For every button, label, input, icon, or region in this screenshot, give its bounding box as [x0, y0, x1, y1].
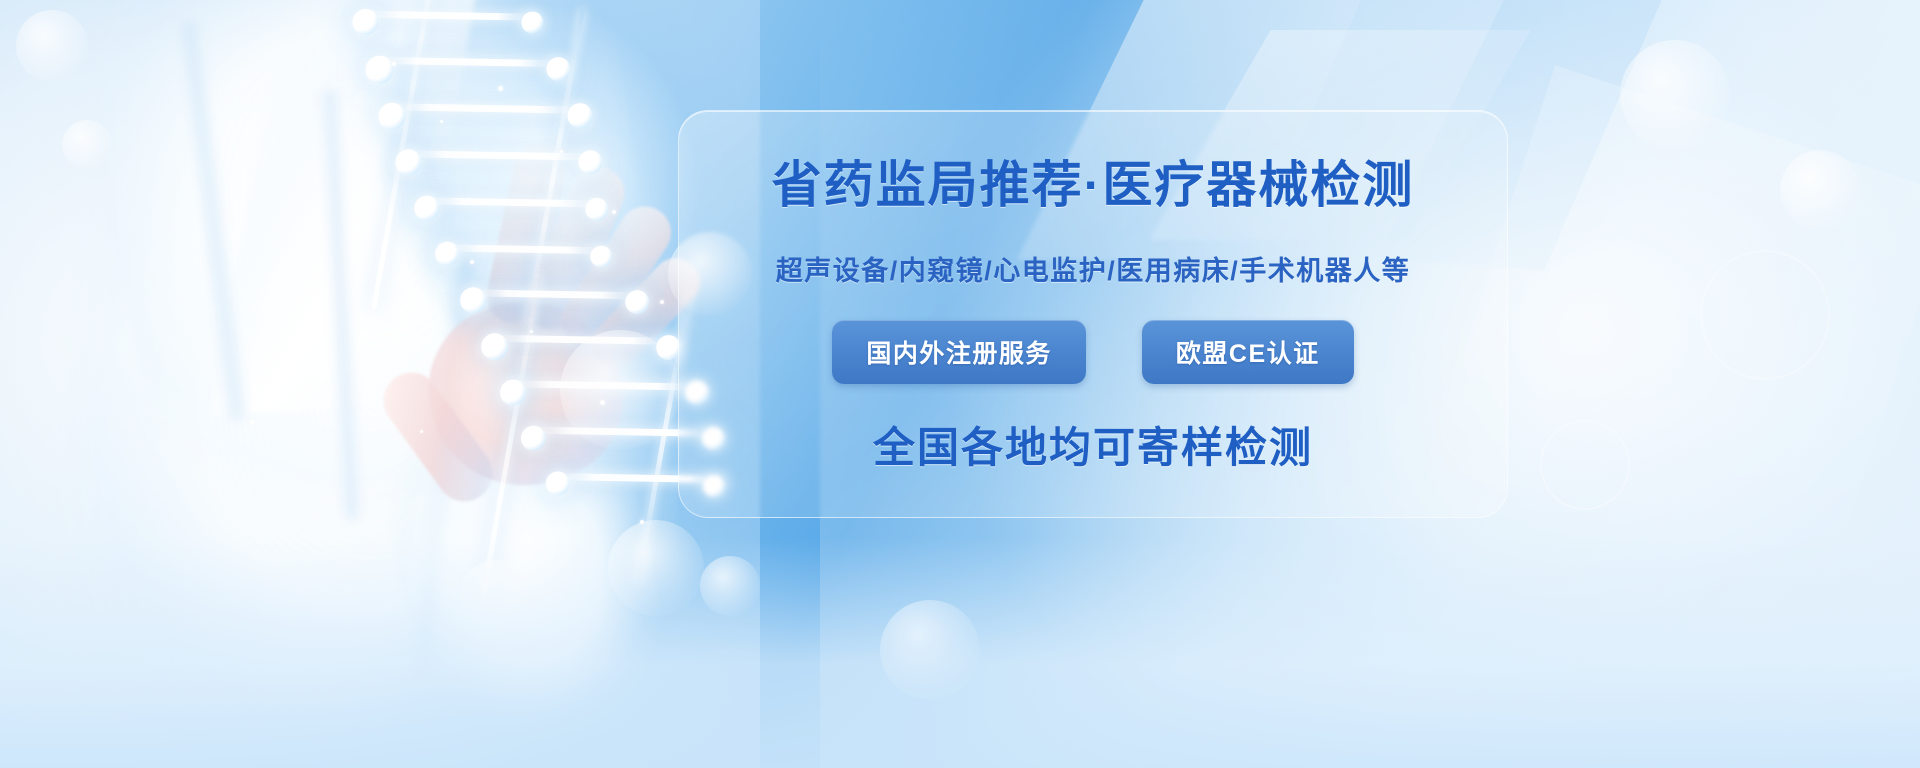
banner-headline: 省药监局推荐·医疗器械检测: [772, 158, 1415, 213]
ce-certification-button[interactable]: 欧盟CE认证: [1142, 320, 1354, 384]
promo-banner: 省药监局推荐·医疗器械检测 超声设备/内窥镜/心电监护/医用病床/手术机器人等 …: [0, 0, 1920, 768]
registration-service-button[interactable]: 国内外注册服务: [832, 320, 1086, 384]
banner-tagline: 全国各地均可寄样检测: [873, 414, 1313, 475]
banner-content: 省药监局推荐·医疗器械检测 超声设备/内窥镜/心电监护/医用病床/手术机器人等 …: [678, 110, 1508, 630]
banner-subline: 超声设备/内窥镜/心电监护/医用病床/手术机器人等: [776, 249, 1411, 288]
cta-button-group: 国内外注册服务 欧盟CE认证: [832, 320, 1353, 384]
